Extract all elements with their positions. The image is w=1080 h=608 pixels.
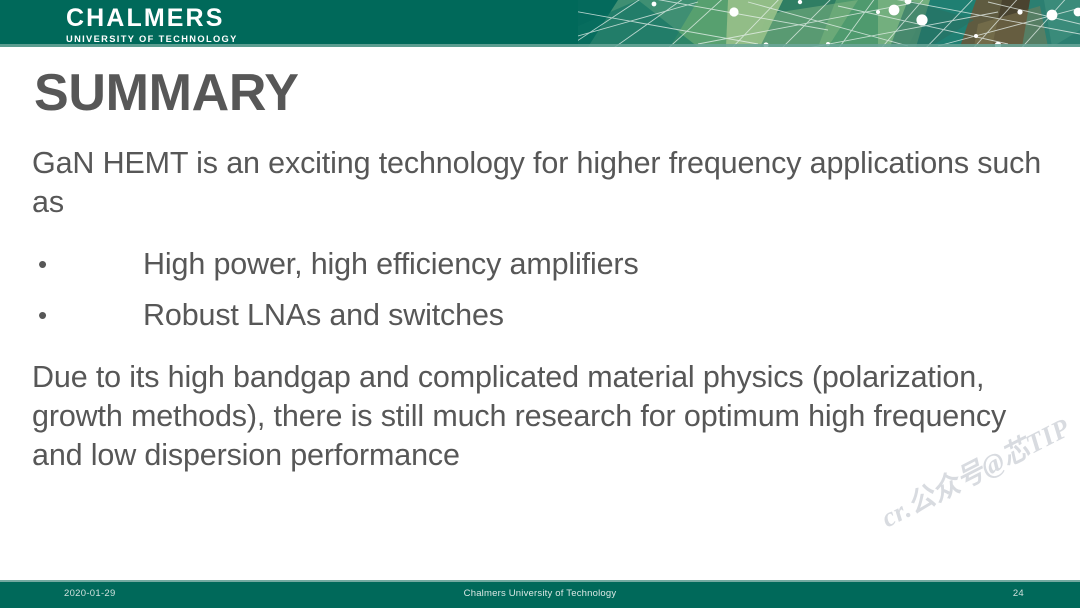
list-item: • High power, high efficiency amplifiers xyxy=(32,245,1042,284)
list-item: • Robust LNAs and switches xyxy=(32,296,1042,335)
slide-body: GaN HEMT is an exciting technology for h… xyxy=(32,144,1042,475)
header-polygon-pattern-icon xyxy=(578,0,1080,47)
slide-page-number: 24 xyxy=(1013,588,1024,599)
body-paragraph-conclusion: Due to its high bandgap and complicated … xyxy=(32,358,1042,475)
header-divider xyxy=(0,44,1080,47)
body-spacer xyxy=(32,234,1042,245)
slide-footer-band: 2020-01-29 Chalmers University of Techno… xyxy=(0,580,1080,608)
list-item-label: Robust LNAs and switches xyxy=(143,298,504,332)
footer-divider xyxy=(0,580,1080,582)
list-item-label: High power, high efficiency amplifiers xyxy=(143,247,639,281)
logo-wordmark: CHALMERS xyxy=(66,6,366,31)
body-paragraph-intro: GaN HEMT is an exciting technology for h… xyxy=(32,144,1042,222)
footer-organization: Chalmers University of Technology xyxy=(0,588,1080,599)
presentation-slide: CHALMERS UNIVERSITY OF TECHNOLOGY SUMMAR… xyxy=(0,0,1080,608)
bullet-dot-icon: • xyxy=(38,296,47,335)
page-title: SUMMARY xyxy=(34,64,299,122)
chalmers-logo: CHALMERS UNIVERSITY OF TECHNOLOGY xyxy=(66,6,366,45)
bullet-dot-icon: • xyxy=(38,245,47,284)
slide-header-band: CHALMERS UNIVERSITY OF TECHNOLOGY xyxy=(0,0,1080,47)
body-spacer xyxy=(32,347,1042,358)
